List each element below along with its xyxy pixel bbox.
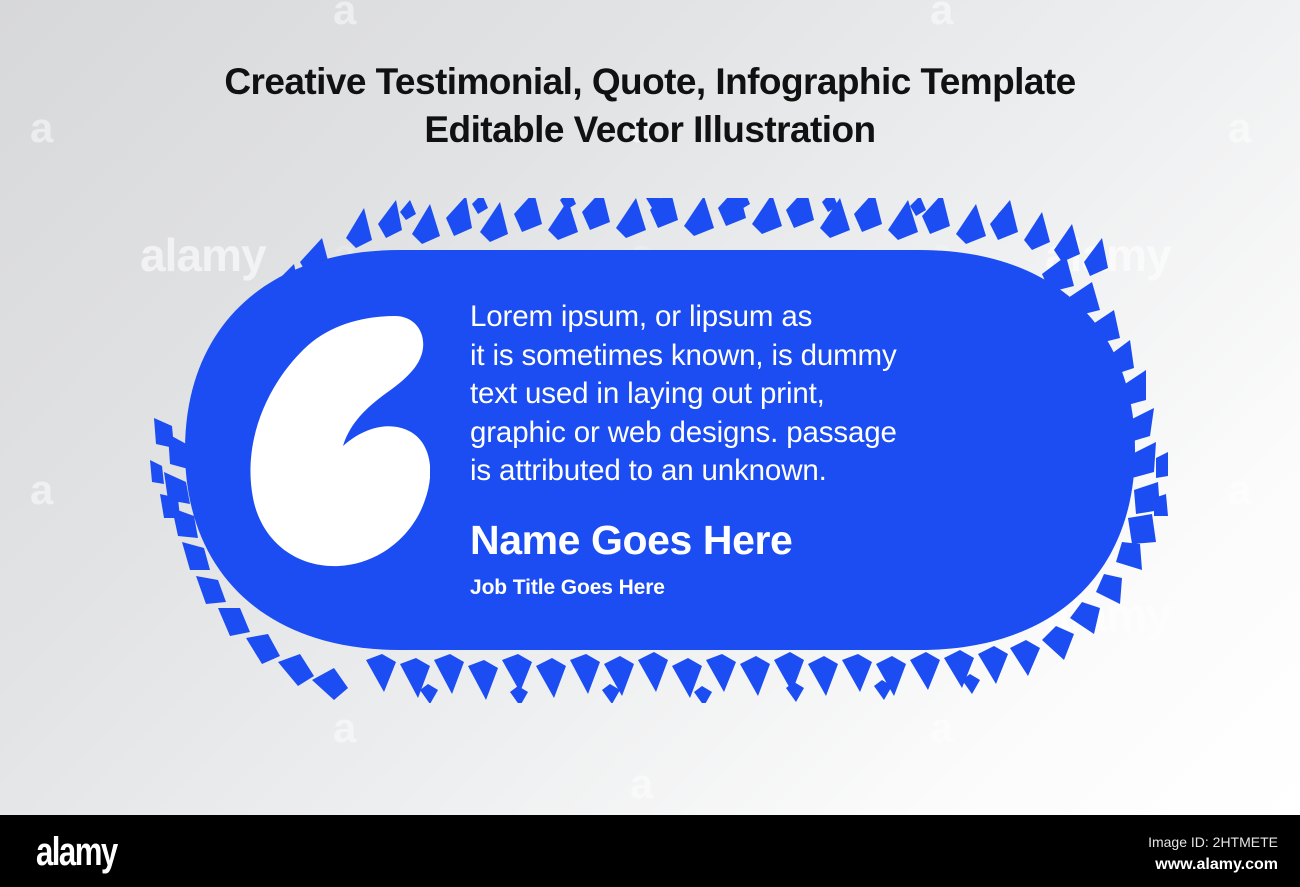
- footer-meta: Image ID: 2HTMETE www.alamy.com: [1148, 831, 1278, 876]
- screenshot-root: a a a a a alamy alamy alamy a a alamy al…: [0, 0, 1300, 887]
- quote-line: text used in laying out print,: [470, 375, 1030, 414]
- watermark-letter: a: [333, 704, 356, 752]
- quote-line: Lorem ipsum, or lipsum as: [470, 298, 1030, 337]
- watermark-letter: a: [930, 0, 953, 34]
- title-line-2: Editable Vector Illustration: [0, 106, 1300, 154]
- quote-paragraph: Lorem ipsum, or lipsum as it is sometime…: [470, 298, 1030, 491]
- watermark-letter: a: [333, 0, 356, 34]
- watermark-letter: a: [30, 466, 53, 514]
- website-label[interactable]: www.alamy.com: [1148, 853, 1278, 876]
- watermark-letter: a: [1228, 466, 1251, 514]
- quote-line: is attributed to an unknown.: [470, 452, 1030, 491]
- quote-line: it is sometimes known, is dummy: [470, 337, 1030, 376]
- alamy-logo[interactable]: alamy: [36, 832, 117, 872]
- watermark-letter: a: [930, 704, 953, 752]
- person-job-title: Job Title Goes Here: [470, 574, 665, 601]
- image-id-label: Image ID: 2HTMETE: [1148, 831, 1278, 853]
- testimonial-card: Lorem ipsum, or lipsum as it is sometime…: [150, 198, 1170, 703]
- title-line-1: Creative Testimonial, Quote, Infographic…: [0, 58, 1300, 106]
- quote-line: graphic or web designs. passage: [470, 414, 1030, 453]
- person-name: Name Goes Here: [470, 516, 792, 564]
- artwork-canvas: a a a a a alamy alamy alamy a a alamy al…: [0, 0, 1300, 815]
- artwork-title: Creative Testimonial, Quote, Infographic…: [0, 58, 1300, 154]
- stock-footer-bar: alamy Image ID: 2HTMETE www.alamy.com: [0, 815, 1300, 887]
- opening-quote-mark-icon: [245, 308, 430, 573]
- watermark-letter: a: [630, 760, 653, 808]
